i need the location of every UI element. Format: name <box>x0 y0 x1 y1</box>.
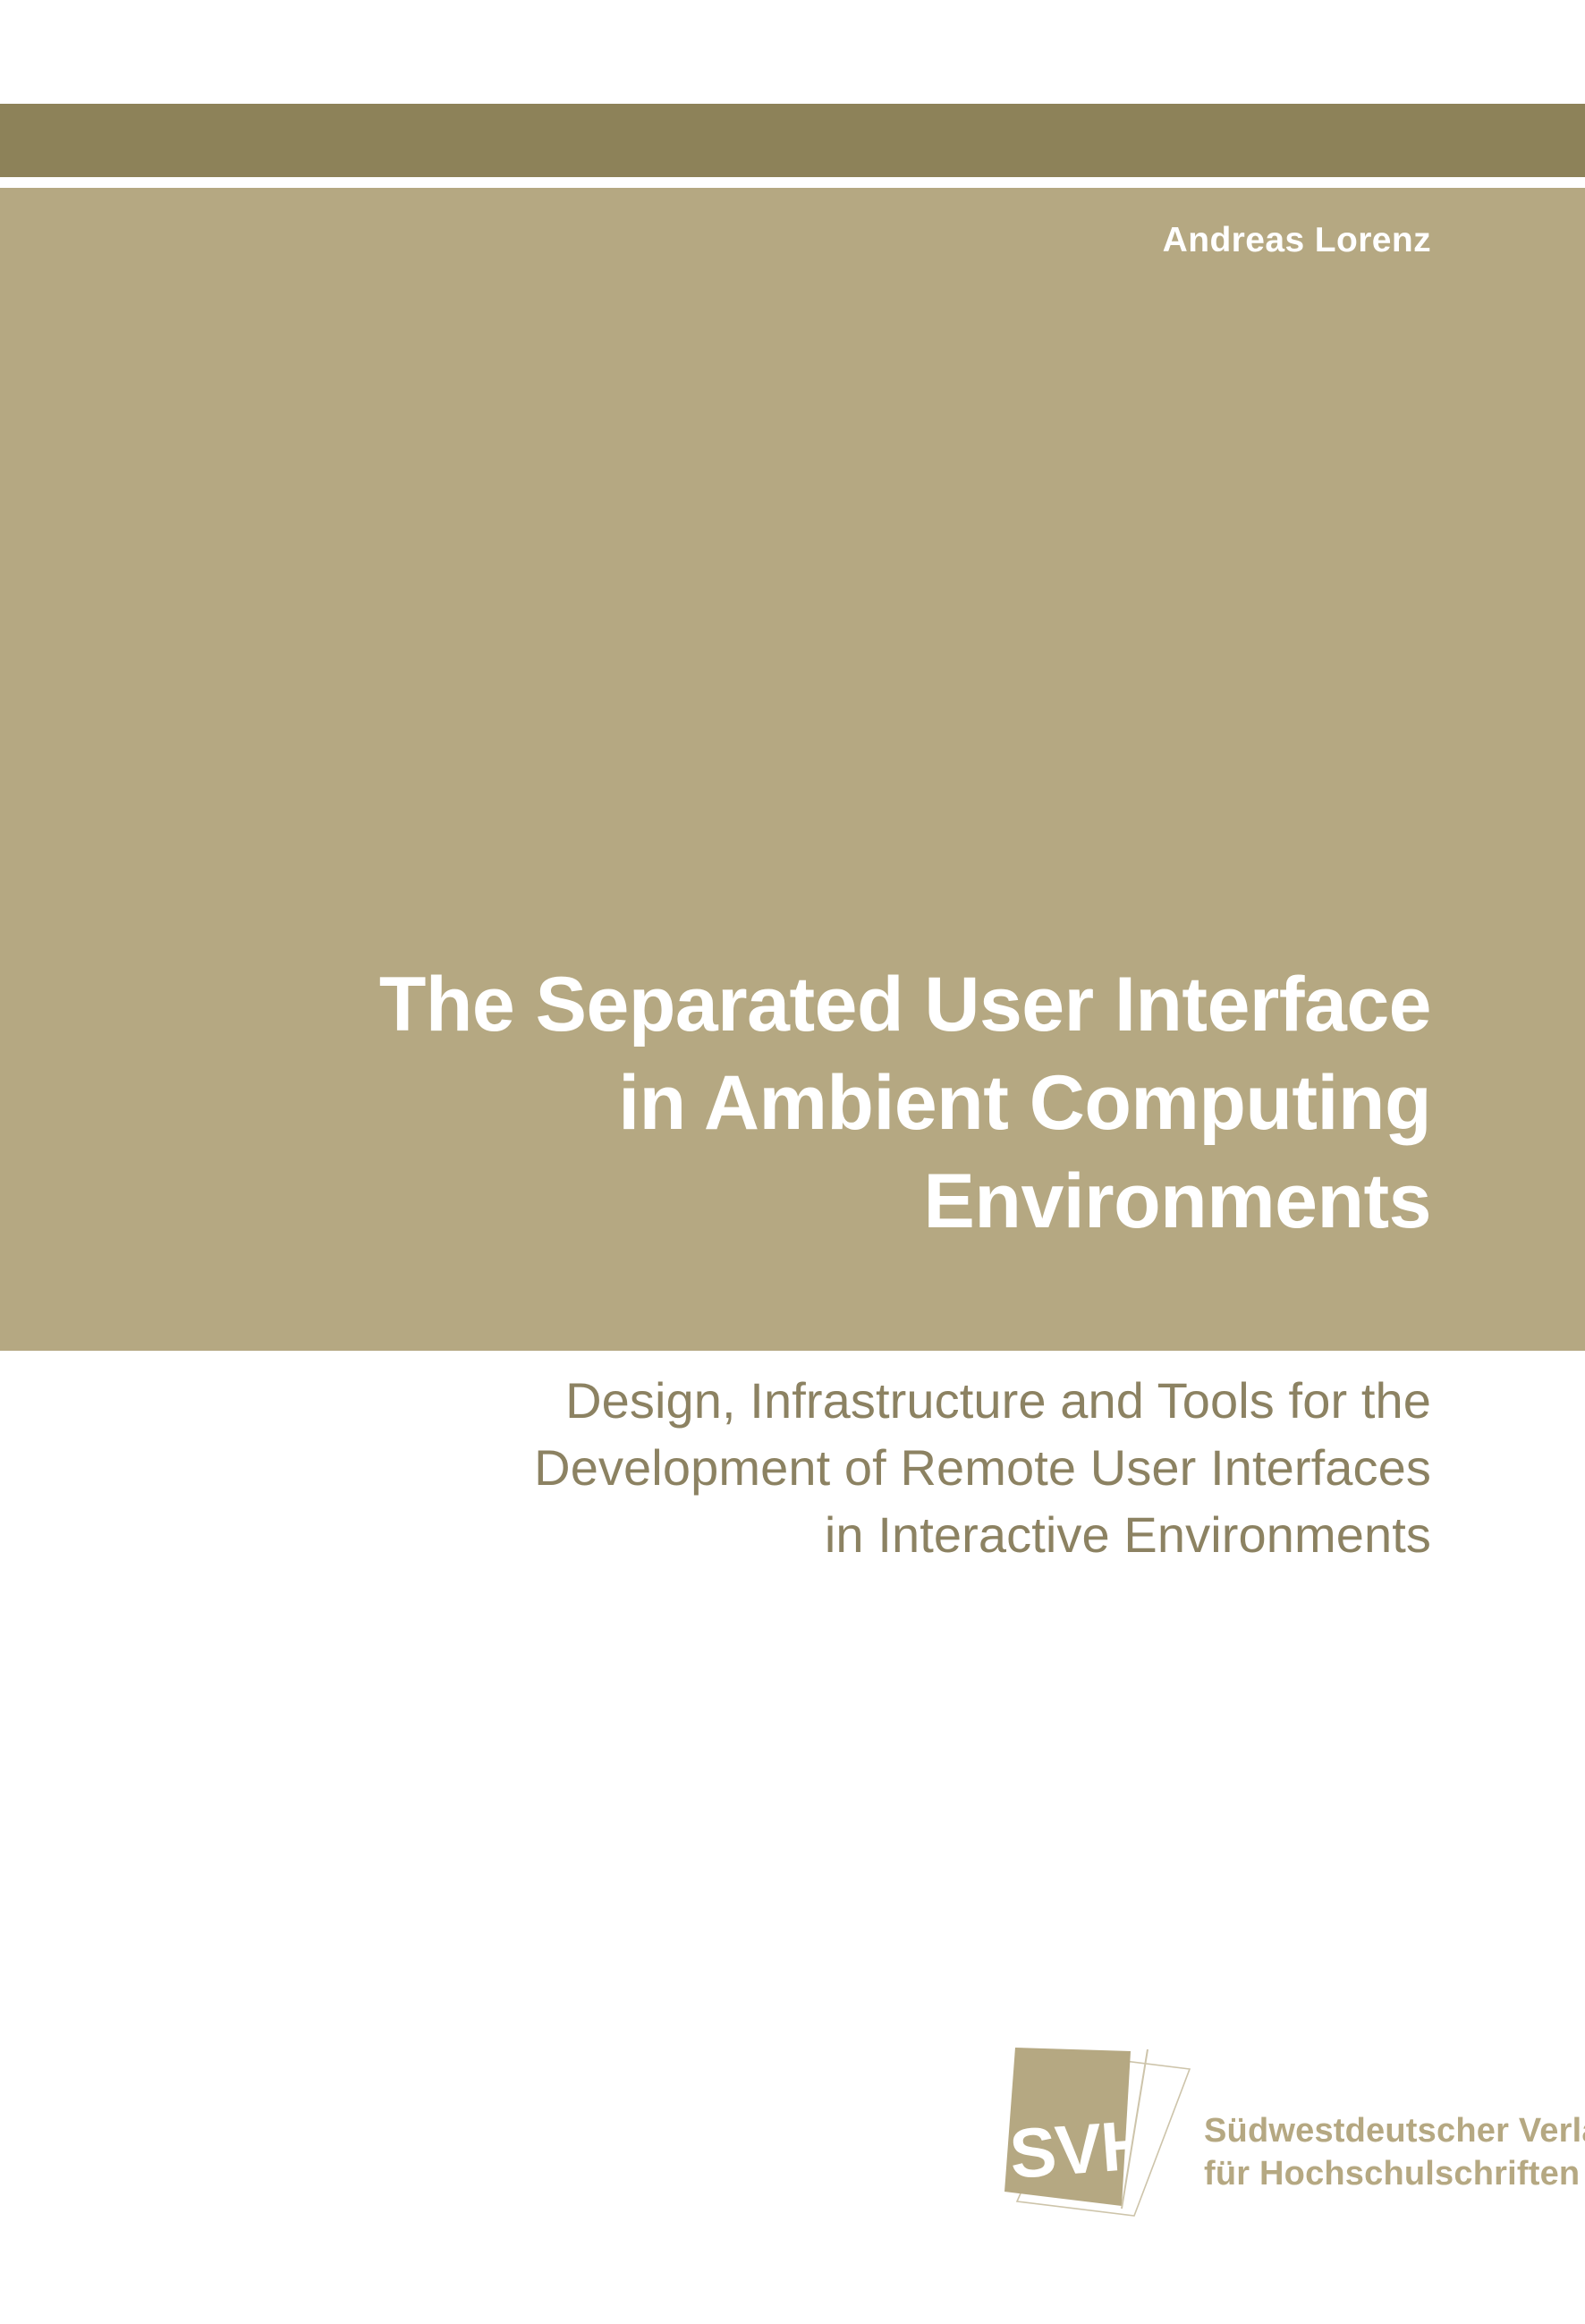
title-line-3: Environments <box>0 1152 1431 1251</box>
subtitle-line-3: in Interactive Environments <box>0 1501 1431 1568</box>
book-title: The Separated User Interface in Ambient … <box>0 955 1585 1251</box>
publisher-name: Südwestdeutscher Verlag für Hochschulsch… <box>1204 2110 1585 2195</box>
book-subtitle: Design, Infrastructure and Tools for the… <box>0 1367 1585 1568</box>
title-line-2: in Ambient Computing <box>0 1054 1431 1152</box>
publisher-name-line-1: Südwestdeutscher Verlag <box>1204 2110 1585 2153</box>
top-accent-band <box>0 104 1585 177</box>
book-cover: Andreas Lorenz The Separated User Interf… <box>0 0 1585 2324</box>
subtitle-line-2: Development of Remote User Interfaces <box>0 1434 1431 1501</box>
publisher-logo: SVH Südwestdeutscher Verlag für Hochschu… <box>996 2042 1479 2230</box>
subtitle-line-1: Design, Infrastructure and Tools for the <box>0 1367 1431 1434</box>
author-name: Andreas Lorenz <box>0 222 1585 260</box>
publisher-name-line-2: für Hochschulschriften <box>1204 2153 1585 2196</box>
title-line-1: The Separated User Interface <box>0 955 1431 1054</box>
